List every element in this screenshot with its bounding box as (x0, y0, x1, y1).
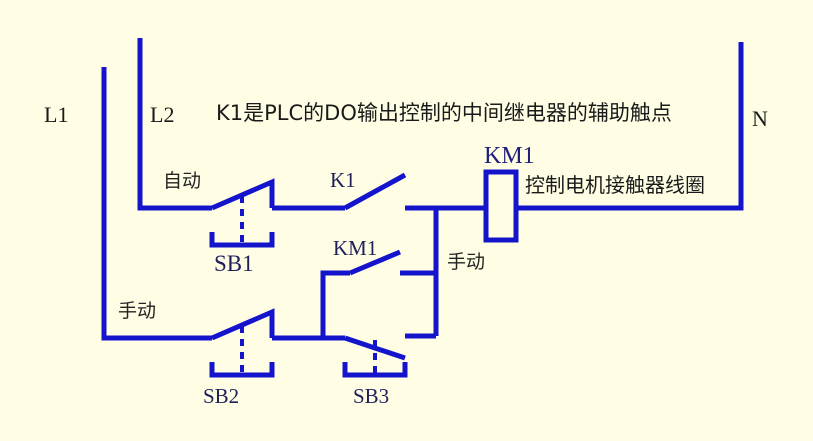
component-label-sb1: SB1 (214, 252, 254, 275)
coil-label-km1: KM1 (484, 144, 535, 168)
branch-label-manual: 手动 (118, 302, 156, 321)
component-label-sb3: SB3 (353, 386, 389, 407)
km1-aux-branch-vertical (323, 273, 350, 338)
coil-description: 控制电机接触器线圈 (525, 175, 705, 195)
branch-label-auto: 自动 (163, 172, 201, 191)
annotation-note-k1: K1是PLC的DO输出控制的中间继电器的辅助触点 (216, 103, 672, 124)
rail-label-l2: L2 (150, 104, 174, 126)
rail-label-l1: L1 (44, 104, 68, 126)
sb2-contact-blade (212, 312, 272, 338)
component-label-k1: K1 (330, 170, 356, 191)
component-label-km1-aux: KM1 (333, 238, 377, 259)
km1-coil-body (486, 172, 516, 240)
ladder-circuit-svg (0, 0, 813, 441)
sb1-contact-blade (212, 182, 272, 208)
circuit-diagram-page: L1 L2 N K1是PLC的DO输出控制的中间继电器的辅助触点 自动 手动 手… (0, 0, 813, 441)
rail-label-n: N (752, 108, 768, 130)
branch-label-manual-2: 手动 (447, 253, 485, 272)
component-label-sb2: SB2 (203, 386, 239, 407)
